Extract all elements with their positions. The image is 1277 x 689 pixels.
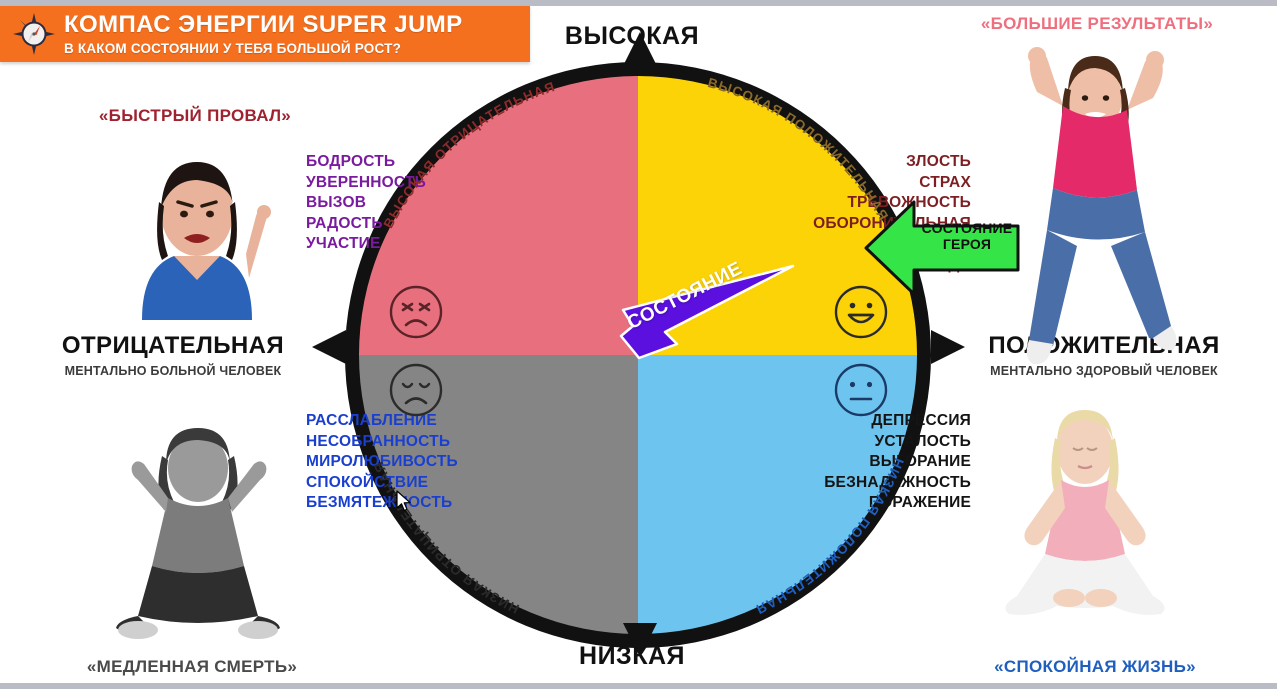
word-item: НЕСОБРАННОСТЬ <box>306 432 458 453</box>
axis-label-low: НИЗКАЯ <box>512 642 752 671</box>
caption-slow-death: «МЕДЛЕННАЯ СМЕРТЬ» <box>42 657 342 677</box>
neutral-face-icon <box>833 362 889 418</box>
word-item: БЕЗНАДЕЖНОСТЬ <box>824 473 971 494</box>
depressed-woman-photo <box>108 420 288 640</box>
word-list-low-negative: ДЕПРЕССИЯ УСТАЛОСТЬ ВЫГОРАНИЕ БЕЗНАДЕЖНО… <box>824 411 971 514</box>
axis-label-high: ВЫСОКАЯ <box>512 22 752 51</box>
mouse-pointer <box>396 490 412 514</box>
jumping-woman-photo <box>985 40 1200 370</box>
meditating-woman-photo <box>965 398 1205 638</box>
word-item: ЗЛОСТЬ <box>813 152 971 173</box>
word-item: ВЫГОРАНИЕ <box>824 452 971 473</box>
caption-big-results: «БОЛЬШИЕ РЕЗУЛЬТАТЫ» <box>947 14 1247 34</box>
word-list-low-positive: РАССЛАБЛЕНИЕ НЕСОБРАННОСТЬ МИРОЛЮБИВОСТЬ… <box>306 411 458 514</box>
caption-calm-life: «СПОКОЙНАЯ ЖИЗНЬ» <box>945 657 1245 677</box>
word-item: СТРАХ <box>813 173 971 194</box>
word-item: БОДРОСТЬ <box>306 152 426 173</box>
sad-face-icon <box>388 362 444 418</box>
axis-label-negative: ОТРИЦАТЕЛЬНАЯ МЕНТАЛЬНО БОЛЬНОЙ ЧЕЛОВЕК <box>8 332 338 378</box>
header-banner: КОМПАС ЭНЕРГИИ SUPER JUMP В КАКОМ СОСТОЯ… <box>0 6 530 62</box>
word-item: РАДОСТЬ <box>306 214 426 235</box>
word-item: УВЕРЕННОСТЬ <box>306 173 426 194</box>
compass-icon <box>12 12 56 56</box>
word-item: МИРОЛЮБИВОСТЬ <box>306 452 458 473</box>
caption-fast-failure: «БЫСТРЫЙ ПРОВАЛ» <box>45 106 345 126</box>
word-item: БЕЗМЯТЕЖНОСТЬ <box>306 493 458 514</box>
angry-face-icon <box>388 284 444 340</box>
word-list-high-positive: БОДРОСТЬ УВЕРЕННОСТЬ ВЫЗОВ РАДОСТЬ УЧАСТ… <box>306 152 426 255</box>
angry-woman-photo <box>112 150 282 320</box>
app-title: КОМПАС ЭНЕРГИИ SUPER JUMP <box>64 12 463 37</box>
bottom-edge-bar <box>0 683 1277 689</box>
axis-negative-main: ОТРИЦАТЕЛЬНАЯ <box>8 332 338 360</box>
word-item: УЧАСТИЕ <box>306 234 426 255</box>
word-item: ВЫЗОВ <box>306 193 426 214</box>
word-item: УСТАЛОСТЬ <box>824 432 971 453</box>
header-text-block: КОМПАС ЭНЕРГИИ SUPER JUMP В КАКОМ СОСТОЯ… <box>64 12 463 55</box>
purple-state-arrow: СОСТОЯНИЕ <box>607 258 807 388</box>
axis-negative-sub: МЕНТАЛЬНО БОЛЬНОЙ ЧЕЛОВЕК <box>8 364 338 378</box>
app-subtitle: В КАКОМ СОСТОЯНИИ У ТЕБЯ БОЛЬШОЙ РОСТ? <box>64 41 463 56</box>
word-item: ПОРАЖЕНИЕ <box>824 493 971 514</box>
word-item: СПОКОЙСТВИЕ <box>306 473 458 494</box>
